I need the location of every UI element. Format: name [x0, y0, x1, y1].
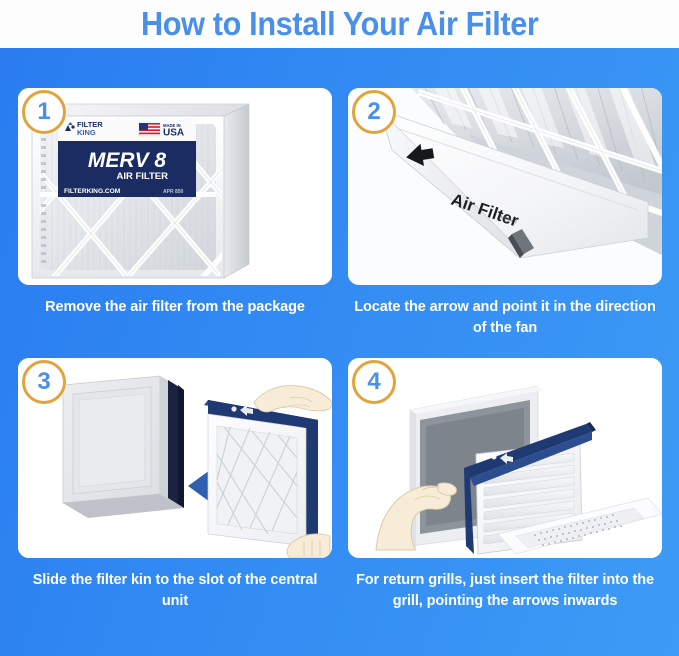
step-3-number: 3: [37, 370, 50, 394]
step-2-badge: 2: [352, 90, 396, 134]
step-1-caption: Remove the air filter from the package: [18, 297, 332, 318]
step-1-badge: 1: [22, 90, 66, 134]
header-band: How to Install Your Air Filter: [0, 0, 679, 48]
step-3: 3 Slide the filter kin to the slot of th…: [18, 358, 332, 613]
step-4: 4 For return grills, just insert the fil…: [348, 358, 662, 613]
brand-line-2: KING: [77, 128, 96, 137]
step-4-caption: For return grills, just insert the filte…: [348, 570, 662, 613]
step-3-caption: Slide the filter kin to the slot of the …: [18, 570, 332, 613]
step-3-card: 3: [18, 358, 332, 558]
step-2: Air Filter MERV 8 2 Locate the arrow and…: [348, 88, 662, 340]
step-4-card: 4: [348, 358, 662, 558]
step-1-card: FILTER KING MADE IN USA: [18, 88, 332, 285]
product-website: FILTERKING.COM: [64, 188, 121, 195]
page-title: How to Install Your Air Filter: [141, 5, 539, 43]
step-2-card: Air Filter MERV 8 2: [348, 88, 662, 285]
merv-rating: MERV 8: [88, 149, 167, 172]
infographic-root: How to Install Your Air Filter: [0, 0, 679, 656]
us-flag-icon: [139, 123, 160, 136]
step-1: FILTER KING MADE IN USA: [18, 88, 332, 318]
step-2-caption: Locate the arrow and point it in the dir…: [348, 297, 662, 340]
steps-grid: FILTER KING MADE IN USA: [0, 48, 679, 656]
step-3-badge: 3: [22, 360, 66, 404]
product-subtitle: AIR FILTER: [116, 171, 168, 182]
step-4-badge: 4: [352, 360, 396, 404]
product-code: APR 850: [163, 189, 184, 195]
flag-text-large: USA: [163, 128, 184, 139]
step-1-number: 1: [37, 100, 50, 124]
step-2-number: 2: [367, 100, 380, 124]
step-4-number: 4: [367, 370, 380, 394]
